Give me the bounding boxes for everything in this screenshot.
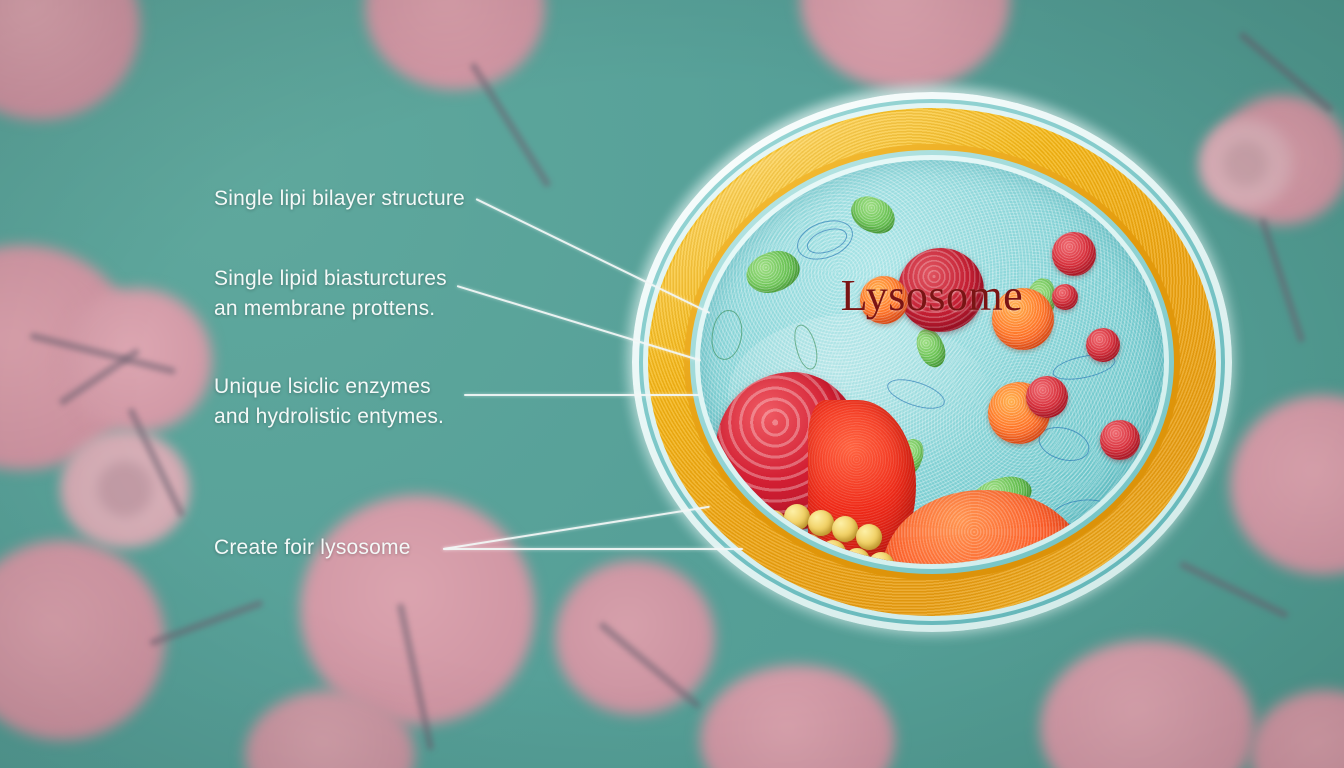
gold-granule xyxy=(808,510,834,536)
leader-line-enzymes xyxy=(464,394,699,396)
label-lipid-bilayer: Single lipi bilayer structure xyxy=(214,184,465,214)
page-title: Lysosome xyxy=(632,270,1232,321)
label-create-lysosome: Create foir lysosome xyxy=(214,533,411,563)
gold-granule xyxy=(784,504,810,530)
lysosome-cell: Lysosome xyxy=(632,92,1232,632)
label-enzymes: Unique lsiclic enzymes and hydrolistic e… xyxy=(214,372,444,432)
gold-granule xyxy=(820,540,846,564)
gold-granule xyxy=(856,524,882,550)
cytoplasm xyxy=(700,160,1164,564)
label-membrane-proteins: Single lipid biasturctures an membrane p… xyxy=(214,264,447,324)
lysosome-diagram: Lysosome Single lipi bilayer structure S… xyxy=(0,0,1344,768)
vesicle xyxy=(1100,420,1140,460)
gold-granule xyxy=(772,532,798,558)
vesicle xyxy=(1026,376,1068,418)
gold-granule xyxy=(832,516,858,542)
gold-granule xyxy=(796,534,822,560)
leader-line-create-lysosome-b xyxy=(443,548,743,550)
vesicle xyxy=(1086,328,1120,362)
